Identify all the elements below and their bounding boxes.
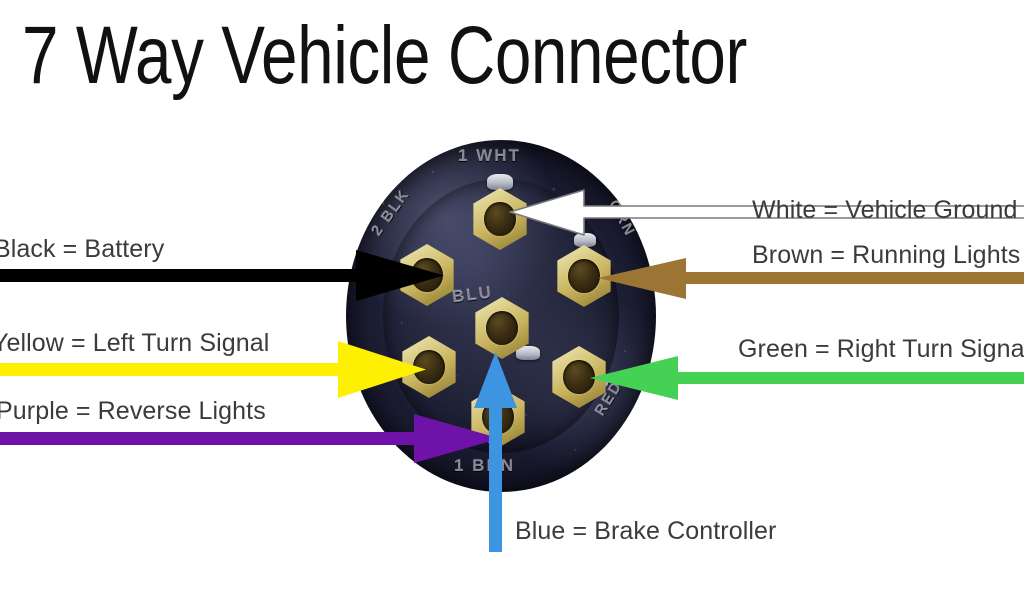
terminal-bolt-top [487,174,513,190]
label-green: Green = Right Turn Signal [738,334,1024,364]
label-brown: Brown = Running Lights [752,240,1020,270]
label-yellow: Yellow = Left Turn Signal [0,328,269,358]
connector-photo: 1 WHT 2 BLK BLU GRN RED 1 BRN [346,140,656,492]
terminal-bolt-upper-right [574,233,596,247]
page-title: 7 Way Vehicle Connector [22,8,822,104]
emboss-1-wht: 1 WHT [458,146,521,166]
emboss-1-brn: 1 BRN [454,456,515,476]
label-white: White = Vehicle Ground [752,195,1018,225]
label-blue: Blue = Brake Controller [515,516,776,546]
diagram-canvas: 7 Way Vehicle Connector 1 WHT 2 BLK BLU … [0,0,1024,600]
label-black: Black = Battery [0,234,164,264]
label-purple: Purple = Reverse Lights [0,396,266,426]
